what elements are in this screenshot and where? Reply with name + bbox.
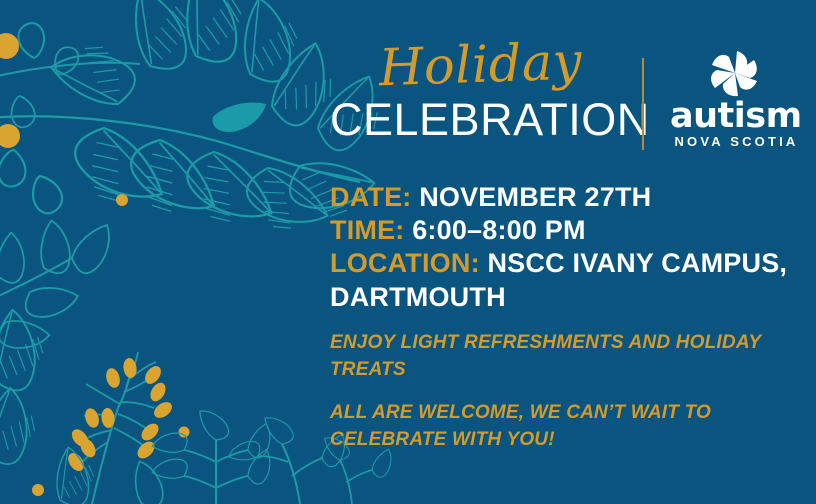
detail-row-time: TIME: 6:00–8:00 PM — [330, 214, 800, 247]
detail-label-time: TIME: — [330, 215, 405, 245]
event-details: DATE: NOVEMBER 27TH TIME: 6:00–8:00 PM L… — [330, 181, 800, 314]
logo-subtitle: NOVA SCOTIA — [670, 135, 800, 148]
holiday-celebration-poster: Holiday CELEBRATION autism NOVA SCO — [0, 0, 816, 504]
detail-value-time: 6:00–8:00 PM — [412, 215, 586, 245]
refreshments-message: ENJOY LIGHT REFRESHMENTS AND HOLIDAY TRE… — [330, 330, 800, 384]
header-divider — [642, 58, 644, 150]
autism-nova-scotia-logo: autism NOVA SCOTIA — [670, 48, 800, 148]
detail-label-location: LOCATION: — [330, 248, 480, 278]
poster-header: Holiday CELEBRATION autism NOVA SCO — [330, 40, 800, 160]
detail-label-date: DATE: — [330, 182, 412, 212]
detail-value-date: NOVEMBER 27TH — [419, 182, 651, 212]
page-title: CELEBRATION — [330, 97, 625, 142]
detail-row-date: DATE: NOVEMBER 27TH — [330, 181, 800, 214]
detail-row-location: LOCATION: NSCC IVANY CAMPUS, DARTMOUTH — [330, 247, 800, 313]
title-block: Holiday CELEBRATION — [330, 40, 625, 142]
script-title: Holiday — [329, 35, 626, 96]
welcome-message: ALL ARE WELCOME, WE CAN’T WAIT TO CELEBR… — [330, 400, 800, 454]
logo-wordmark: autism — [670, 100, 800, 133]
pinwheel-icon — [708, 48, 762, 100]
